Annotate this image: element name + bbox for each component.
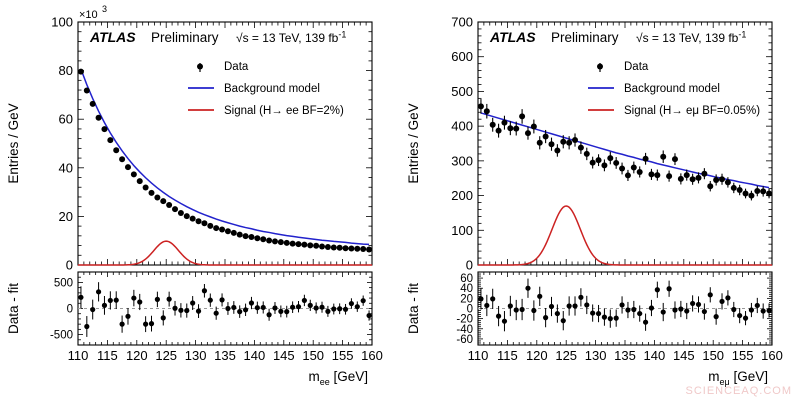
background-model-curve: [81, 69, 369, 244]
x-tick-label: 130: [585, 348, 607, 363]
signal-curve: [478, 206, 772, 265]
figure-root: 020406080100×103Entries / GeVATLASPrelim…: [0, 0, 800, 400]
svg-text:×10: ×10: [79, 9, 98, 21]
y-tick-label: 400: [451, 119, 473, 134]
legend-label: Signal (H→ eμ BF=0.05%): [624, 105, 760, 117]
x-tick-label: 130: [185, 348, 207, 363]
residual-points: [478, 279, 771, 332]
residual-y-tick-label: 0: [67, 304, 73, 316]
svg-text:3: 3: [102, 4, 107, 14]
y-tick-label: 200: [451, 188, 473, 203]
y-tick-label: 500: [451, 84, 473, 99]
legend-entry[interactable]: Signal (H→ eμ BF=0.05%): [588, 105, 760, 117]
x-tick-label: 160: [361, 348, 383, 363]
residual-y-tick-label: -500: [50, 330, 73, 342]
legend-entry[interactable]: Background model: [588, 83, 720, 95]
x-tick-label: 110: [468, 348, 489, 363]
x-tick-label: 125: [155, 348, 177, 363]
y-tick-label: 600: [451, 49, 473, 64]
x-tick-label: 155: [732, 348, 754, 363]
residual-y-axis-title: Data - fit: [6, 283, 21, 334]
x-tick-label: 125: [555, 348, 577, 363]
x-tick-label: 150: [302, 348, 324, 363]
panel-ee: 020406080100×103Entries / GeVATLASPrelim…: [0, 0, 400, 400]
x-tick-label: 160: [761, 348, 783, 363]
legend-entry[interactable]: Data: [197, 61, 249, 73]
background-model-curve: [481, 113, 769, 188]
main-y-axis-title: Entries / GeV: [6, 103, 21, 183]
y-axis-exponent: ×103: [79, 4, 107, 21]
y-tick-label: 0: [466, 258, 473, 273]
main-frame: [78, 22, 372, 265]
main-frame: [478, 22, 772, 265]
plot-ee[interactable]: 020406080100×103Entries / GeVATLASPrelim…: [0, 0, 400, 400]
x-tick-label: 135: [214, 348, 236, 363]
luminosity-label: √s = 13 TeV, 139 fb-1: [236, 30, 346, 46]
legend-label: Signal (H→ ee BF=2%): [224, 105, 344, 117]
y-tick-label: 60: [59, 112, 73, 127]
y-tick-label: 40: [59, 160, 73, 175]
preliminary-label: Preliminary: [151, 30, 219, 45]
x-tick-label: 145: [273, 348, 295, 363]
residual-points: [78, 282, 371, 337]
data-points: [78, 69, 372, 253]
data-marker-icon: [597, 64, 603, 70]
legend-label: Data: [224, 61, 249, 73]
x-tick-label: 120: [126, 348, 148, 363]
x-tick-label: 150: [702, 348, 724, 363]
x-tick-label: 135: [614, 348, 636, 363]
residual-y-axis-title: Data - fit: [406, 283, 421, 334]
preliminary-label: Preliminary: [551, 30, 619, 45]
x-tick-label: 115: [497, 348, 518, 363]
x-axis-title: meμ [GeV]: [708, 369, 768, 387]
x-tick-label: 115: [97, 348, 118, 363]
luminosity-label: √s = 13 TeV, 139 fb-1: [636, 30, 746, 46]
x-tick-label: 110: [68, 348, 89, 363]
y-tick-label: 20: [59, 209, 73, 224]
y-tick-label: 300: [451, 153, 473, 168]
legend-entry[interactable]: Signal (H→ ee BF=2%): [188, 105, 344, 117]
plot-emu[interactable]: 0100200300400500600700Entries / GeVATLAS…: [400, 0, 800, 400]
main-y-axis-title: Entries / GeV: [406, 103, 421, 183]
residual-y-tick-label: 500: [54, 277, 73, 289]
legend-entry[interactable]: Background model: [188, 83, 320, 95]
x-tick-label: 140: [244, 348, 266, 363]
legend-label: Background model: [624, 83, 720, 95]
x-tick-label: 145: [673, 348, 695, 363]
x-tick-label: 140: [644, 348, 666, 363]
y-tick-label: 100: [451, 223, 473, 238]
legend-label: Data: [624, 61, 649, 73]
x-tick-label: 120: [526, 348, 548, 363]
atlas-label: ATLAS: [489, 29, 536, 45]
legend-entry[interactable]: Data: [597, 61, 649, 73]
data-marker-icon: [197, 64, 203, 70]
y-tick-label: 700: [451, 15, 473, 30]
residual-y-tick-label: 60: [460, 273, 473, 285]
y-tick-label: 0: [66, 258, 73, 273]
x-axis-title: mee [GeV]: [308, 369, 368, 387]
x-tick-label: 155: [332, 348, 354, 363]
atlas-label: ATLAS: [89, 29, 136, 45]
y-tick-label: 80: [59, 63, 73, 78]
legend-label: Background model: [224, 83, 320, 95]
panel-emu: 0100200300400500600700Entries / GeVATLAS…: [400, 0, 800, 400]
y-tick-label: 100: [51, 15, 73, 30]
